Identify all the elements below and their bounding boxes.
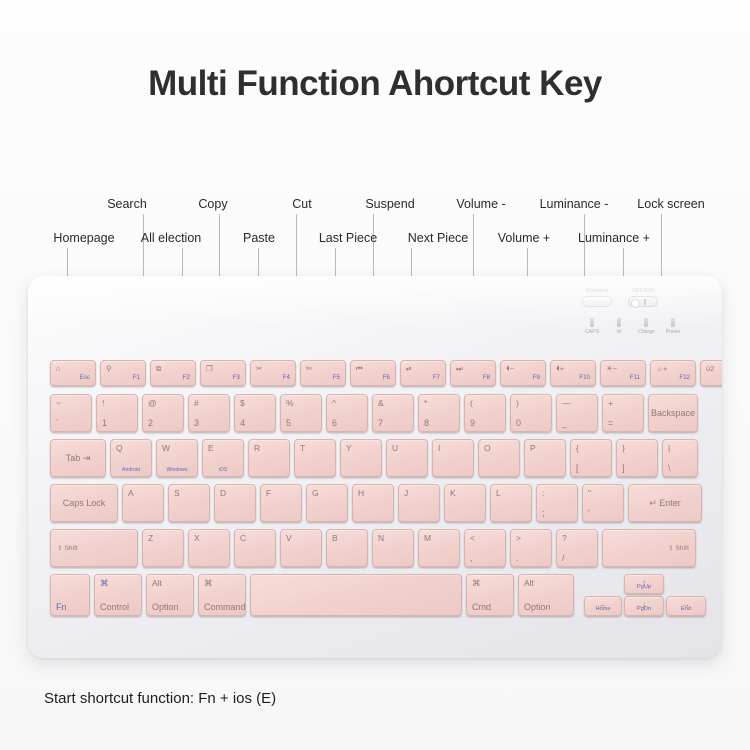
key-legend-top: } (622, 443, 625, 453)
key-control[interactable]: ⌘Control (94, 574, 142, 616)
key-icon: ὑ2 (706, 365, 714, 373)
key-legend-letter: B (332, 533, 338, 543)
callout-label-paste: Paste (243, 231, 275, 245)
key-legend-bottom: , (470, 553, 473, 563)
key-legend: F10 (579, 374, 590, 381)
key-three[interactable]: #3 (188, 394, 230, 432)
led-indicator-icon (671, 318, 675, 327)
key-delete[interactable]: ὑ2Delete (700, 360, 722, 386)
key-fn[interactable]: Fn (50, 574, 90, 616)
led-label: Power (665, 329, 681, 335)
power-label: OFF/ON (628, 288, 658, 294)
key-legend-bottom: 7 (378, 418, 383, 428)
key-legend-top: | (668, 443, 670, 453)
key-legend-sub: PgDn (625, 606, 663, 612)
key-icon: ⏴+ (556, 365, 564, 373)
key-v[interactable]: V (280, 529, 322, 567)
key-legend-top: $ (240, 398, 245, 408)
key-legend-sub: Windows (157, 467, 197, 473)
key-legend: Esc (80, 374, 90, 381)
status-strip: Connect OFF/ON CAPS✉ChargePower (582, 288, 700, 340)
key-legend-letter: X (194, 533, 200, 543)
key-one[interactable]: !1 (96, 394, 138, 432)
key-icon: ⌘ (472, 578, 481, 589)
key-legend-bottom: ` (56, 418, 59, 428)
key-legend-top: ? (562, 533, 567, 543)
key-six[interactable]: ^6 (326, 394, 368, 432)
key-command-left[interactable]: ⌘Command (198, 574, 246, 616)
key-icon: ⏯ (406, 365, 412, 373)
key-legend-letter: V (286, 533, 292, 543)
key-legend: F1 (133, 374, 140, 381)
callout-label-lock-screen: Lock screen (637, 197, 704, 211)
key-legend-bottom: 0 (516, 418, 521, 428)
key-y[interactable]: Y (340, 439, 382, 477)
key-arrow-down[interactable]: ↓PgDn (624, 596, 664, 616)
key-w[interactable]: WWindows (156, 439, 198, 477)
key-legend-top: > (516, 533, 521, 543)
key-legend-bottom: 5 (286, 418, 291, 428)
key-icon: ☼+ (656, 365, 667, 373)
callout-label-volume: Volume - (456, 197, 505, 211)
led-label: Charge (638, 329, 654, 335)
key-row-bottom: Fn⌘ControlAltOption⌘Command⌘CmdAltOption (50, 574, 574, 616)
power-control[interactable]: OFF/ON (628, 288, 658, 307)
key-arrow-left[interactable]: ←Home (584, 596, 622, 616)
key-shift-left[interactable]: ⇧ Shift (50, 529, 138, 567)
key-legend-letter: N (378, 533, 384, 543)
key-esc[interactable]: ⌂Esc (50, 360, 96, 386)
callout-label-search: Search (107, 197, 147, 211)
key-icon: Alt (524, 578, 534, 588)
key-legend: F4 (283, 374, 290, 381)
key-f5[interactable]: ✄F5 (300, 360, 346, 386)
key-legend-top: — (562, 398, 571, 408)
key-legend-letter: W (162, 443, 170, 453)
key-legend-letter: Y (346, 443, 352, 453)
key-legend-letter: Z (148, 533, 153, 543)
connect-button[interactable] (582, 296, 612, 307)
key-legend-letter: L (496, 488, 501, 498)
key-legend-top: " (588, 488, 591, 498)
key-legend-letter: M (424, 533, 431, 543)
key-arrow-right[interactable]: →End (666, 596, 706, 616)
key-legend-sub: End (667, 606, 705, 612)
callout-label-all-election: All election (141, 231, 201, 245)
key-bracket-right[interactable]: }] (616, 439, 658, 477)
key-row-home: Caps LockASDFGHJKL:;"'↵ Enter (50, 484, 702, 522)
key-f12[interactable]: ☼+F12 (650, 360, 696, 386)
key-shift-right[interactable]: ⇧ Shift (602, 529, 696, 567)
key-legend: F9 (533, 374, 540, 381)
key-five[interactable]: %5 (280, 394, 322, 432)
key-legend-letter: P (530, 443, 536, 453)
key-legend-top: * (424, 398, 427, 408)
key-legend-top: : (542, 488, 544, 498)
key-legend-top: ! (102, 398, 104, 408)
key-legend-letter: U (392, 443, 398, 453)
key-legend-sub: PgUp (625, 584, 663, 590)
key-legend-bottom: 4 (240, 418, 245, 428)
key-cmd-right[interactable]: ⌘Cmd (466, 574, 514, 616)
key-h[interactable]: H (352, 484, 394, 522)
key-backtick[interactable]: ~` (50, 394, 92, 432)
key-icon: ⏮ (356, 365, 363, 373)
key-legend-center: Caps Lock (51, 485, 117, 521)
key-legend-letter: T (300, 443, 305, 453)
led-label: CAPS (584, 329, 600, 335)
footer-caption: Start shortcut function: Fn + ios (E) (44, 690, 276, 707)
key-legend-letter: J (404, 488, 408, 498)
key-option-left[interactable]: AltOption (146, 574, 194, 616)
key-legend-top: # (194, 398, 199, 408)
key-icon: ⏴− (506, 365, 514, 373)
key-legend-letter: G (312, 488, 319, 498)
key-m[interactable]: M (418, 529, 460, 567)
key-icon: ❐ (206, 365, 213, 373)
key-f4[interactable]: ✂F4 (250, 360, 296, 386)
key-legend: F3 (233, 374, 240, 381)
key-r[interactable]: R (248, 439, 290, 477)
key-f10[interactable]: ⏴+F10 (550, 360, 596, 386)
key-x[interactable]: X (188, 529, 230, 567)
key-legend-top: ^ (332, 398, 336, 408)
key-legend-bottom: = (608, 418, 613, 428)
key-g[interactable]: G (306, 484, 348, 522)
key-semicolon[interactable]: :; (536, 484, 578, 522)
key-legend: F7 (433, 374, 440, 381)
key-legend-letter: Q (116, 443, 123, 453)
key-icon: ⏭ (456, 365, 463, 373)
key-l[interactable]: L (490, 484, 532, 522)
key-backslash[interactable]: |\ (662, 439, 698, 477)
led-: ✉ (611, 318, 627, 335)
key-legend-center: ⇧ Shift (668, 544, 689, 552)
key-space[interactable] (250, 574, 462, 616)
key-enter[interactable]: ↵ Enter (628, 484, 702, 522)
key-f6[interactable]: ⏮F6 (350, 360, 396, 386)
key-zero[interactable]: )0 (510, 394, 552, 432)
key-legend-sub: iOS (203, 467, 243, 473)
key-period[interactable]: >. (510, 529, 552, 567)
led-indicators: CAPS✉ChargePower (582, 318, 700, 335)
key-legend-bottom: ] (622, 463, 625, 473)
key-seven[interactable]: &7 (372, 394, 414, 432)
key-legend: F8 (483, 374, 490, 381)
connect-label: Connect (582, 288, 612, 294)
key-c[interactable]: C (234, 529, 276, 567)
key-two[interactable]: @2 (142, 394, 184, 432)
keyboard-device: Connect OFF/ON CAPS✉ChargePower ⌂Esc⚲F1⧉… (28, 276, 722, 658)
key-f3[interactable]: ❐F3 (200, 360, 246, 386)
key-legend-bottom: . (516, 553, 519, 563)
key-legend-letter: S (174, 488, 180, 498)
key-f[interactable]: F (260, 484, 302, 522)
arrow-key-cluster: ↑PgUp←Home↓PgDn→End (584, 574, 706, 616)
key-equals[interactable]: += (602, 394, 644, 432)
key-u[interactable]: U (386, 439, 428, 477)
callout-label-luminance: Luminance - (540, 197, 609, 211)
key-legend-letter: A (128, 488, 134, 498)
key-minus[interactable]: —_ (556, 394, 598, 432)
key-legend-top: & (378, 398, 384, 408)
key-row-qwerty: Tab ⇥QAndroidWWindowsEiOSRTYUIOP{[}]|\ (50, 439, 698, 477)
key-f9[interactable]: ⏴−F9 (500, 360, 546, 386)
key-j[interactable]: J (398, 484, 440, 522)
key-f2[interactable]: ⧉F2 (150, 360, 196, 386)
key-icon: ⌘ (204, 578, 213, 589)
key-legend: F6 (383, 374, 390, 381)
led-label: ✉ (611, 329, 627, 335)
key-legend-center: ⇧ Shift (57, 544, 78, 552)
key-o[interactable]: O (478, 439, 520, 477)
key-legend-bottom: 8 (424, 418, 429, 428)
key-legend-letter: R (254, 443, 260, 453)
key-eight[interactable]: *8 (418, 394, 460, 432)
key-legend-bottom: 6 (332, 418, 337, 428)
key-legend-top: + (608, 398, 613, 408)
key-i[interactable]: I (432, 439, 474, 477)
key-legend-bottom: ' (588, 508, 590, 518)
key-caps-lock[interactable]: Caps Lock (50, 484, 118, 522)
key-legend-sub: Android (111, 467, 151, 473)
power-toggle[interactable] (628, 296, 658, 307)
key-legend: F2 (183, 374, 190, 381)
key-legend-top: @ (148, 398, 157, 408)
key-p[interactable]: P (524, 439, 566, 477)
key-row-shift: ⇧ ShiftZXCVBNM<,>.?/⇧ Shift (50, 529, 696, 567)
key-four[interactable]: $4 (234, 394, 276, 432)
key-legend-bottom: Option (524, 602, 551, 612)
key-icon: ⌘ (100, 578, 109, 589)
key-f11[interactable]: ☀−F11 (600, 360, 646, 386)
key-slash[interactable]: ?/ (556, 529, 598, 567)
key-legend-top: ~ (56, 398, 61, 408)
key-row-number: ~`!1@2#3$4%5^6&7*8(9)0—_+=Backspace (50, 394, 698, 432)
key-f7[interactable]: ⏯F7 (400, 360, 446, 386)
key-legend: F5 (333, 374, 340, 381)
key-legend-letter: H (358, 488, 364, 498)
key-legend-letter: D (220, 488, 226, 498)
key-t[interactable]: T (294, 439, 336, 477)
key-legend-bottom: 3 (194, 418, 199, 428)
key-nine[interactable]: (9 (464, 394, 506, 432)
key-icon: ☀− (606, 365, 617, 373)
key-legend-bottom: Control (100, 602, 129, 612)
key-legend-bottom: \ (668, 463, 671, 473)
key-b[interactable]: B (326, 529, 368, 567)
key-legend: F12 (679, 374, 690, 381)
key-d[interactable]: D (214, 484, 256, 522)
key-legend-bottom: / (562, 553, 565, 563)
key-legend-bottom: _ (562, 418, 567, 428)
key-f8[interactable]: ⏭F8 (450, 360, 496, 386)
key-s[interactable]: S (168, 484, 210, 522)
page-title: Multi Function Ahortcut Key (0, 64, 750, 104)
key-legend-bottom: 1 (102, 418, 107, 428)
key-legend-letter: C (240, 533, 246, 543)
key-legend-top: ) (516, 398, 519, 408)
key-quote[interactable]: "' (582, 484, 624, 522)
key-legend-bottom: [ (576, 463, 579, 473)
callout-label-homepage: Homepage (53, 231, 114, 245)
key-bracket-left[interactable]: {[ (570, 439, 612, 477)
callout-label-copy: Copy (198, 197, 227, 211)
key-icon: ✂ (256, 365, 262, 373)
key-legend-top: % (286, 398, 294, 408)
led-indicator-icon (644, 318, 648, 327)
key-backspace[interactable]: Backspace (648, 394, 698, 432)
key-legend-top: { (576, 443, 579, 453)
key-icon: ✄ (306, 365, 312, 373)
key-a[interactable]: A (122, 484, 164, 522)
led-caps: CAPS (584, 318, 600, 335)
key-legend-bottom: Option (152, 602, 179, 612)
key-legend-top: ( (470, 398, 473, 408)
key-legend-bottom: Command (204, 602, 246, 612)
key-legend-bottom: Fn (56, 602, 67, 612)
key-legend-bottom: Cmd (472, 602, 491, 612)
key-tab[interactable]: Tab ⇥ (50, 439, 106, 477)
key-legend-letter: I (438, 443, 440, 453)
connect-control[interactable]: Connect (582, 288, 612, 307)
callout-label-next-piece: Next Piece (408, 231, 468, 245)
led-charge: Charge (638, 318, 654, 335)
key-z[interactable]: Z (142, 529, 184, 567)
callout-label-luminance: Luminance + (578, 231, 650, 245)
key-legend-center: Backspace (649, 395, 697, 431)
callout-label-volume: Volume + (498, 231, 550, 245)
key-icon: ⚲ (106, 365, 112, 373)
key-legend-center: ↵ Enter (629, 485, 701, 521)
key-legend: F11 (630, 374, 640, 381)
led-indicator-icon (590, 318, 594, 327)
led-power: Power (665, 318, 681, 335)
key-legend-bottom: 2 (148, 418, 153, 428)
key-legend-letter: E (208, 443, 214, 453)
key-icon: Alt (152, 578, 162, 588)
key-legend-letter: O (484, 443, 491, 453)
key-option-right[interactable]: AltOption (518, 574, 574, 616)
callout-label-last-piece: Last Piece (319, 231, 377, 245)
key-k[interactable]: K (444, 484, 486, 522)
key-legend-sub: Home (585, 606, 621, 612)
key-icon: ⧉ (156, 365, 161, 373)
key-legend-bottom: ; (542, 508, 545, 518)
key-q[interactable]: QAndroid (110, 439, 152, 477)
callout-label-suspend: Suspend (365, 197, 414, 211)
key-arrow-up[interactable]: ↑PgUp (624, 574, 664, 594)
key-legend-letter: F (266, 488, 271, 498)
key-e[interactable]: EiOS (202, 439, 244, 477)
key-legend-bottom: 9 (470, 418, 475, 428)
key-legend-top: < (470, 533, 475, 543)
key-legend-letter: K (450, 488, 456, 498)
key-icon: ⌂ (56, 365, 61, 373)
key-n[interactable]: N (372, 529, 414, 567)
led-indicator-icon (617, 318, 621, 327)
key-comma[interactable]: <, (464, 529, 506, 567)
key-legend-center: Tab ⇥ (51, 440, 105, 476)
callout-label-cut: Cut (292, 197, 311, 211)
key-row-function: ⌂Esc⚲F1⧉F2❐F3✂F4✄F5⏮F6⏯F7⏭F8⏴−F9⏴+F10☀−F… (50, 360, 722, 386)
key-f1[interactable]: ⚲F1 (100, 360, 146, 386)
